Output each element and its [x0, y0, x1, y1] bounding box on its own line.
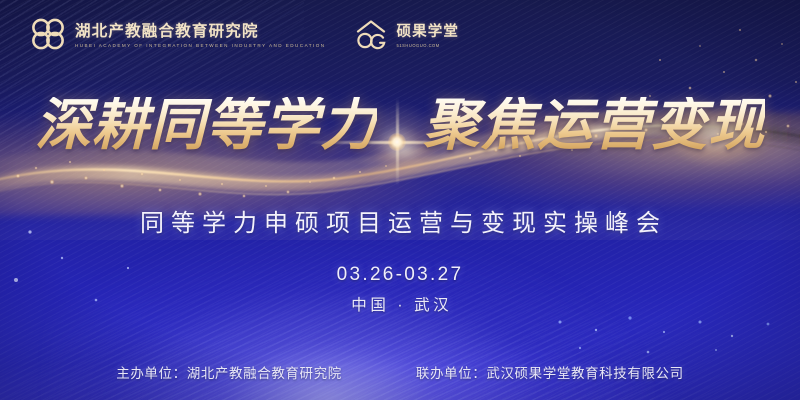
event-city: 中国 · 武汉 — [0, 293, 800, 315]
logo-shuoguo-name-cn: 硕果学堂 — [397, 24, 459, 40]
logo-shuoguo-academy: 硕果学堂 51SHUOGUO.COM — [354, 18, 459, 55]
vignette-overlay — [0, 0, 800, 400]
shuoguo-monogram-icon — [354, 18, 388, 55]
organizer-footer: 主办单位：湖北产教融合教育研究院 联办单位：武汉硕果学堂教育科技有限公司 — [0, 362, 800, 382]
co-host-organization: 联办单位：武汉硕果学堂教育科技有限公司 — [416, 362, 684, 382]
host-organization: 主办单位：湖北产教融合教育研究院 — [116, 362, 342, 382]
logo-shuoguo-text: 硕果学堂 51SHUOGUO.COM — [397, 24, 459, 48]
conference-banner: 湖北产教融合教育研究院 HUBEI ACADEMY OF INTEGRATION… — [0, 0, 800, 400]
logo-shuoguo-name-en: 51SHUOGUO.COM — [397, 43, 459, 49]
logo-hubei-name-en: HUBEI ACADEMY OF INTEGRATION BETWEEN IND… — [75, 43, 326, 50]
event-subtitle: 同等学力申硕项目运营与变现实操峰会 — [0, 203, 800, 238]
event-date-block: 03.26-03.27 中国 · 武汉 — [0, 264, 800, 315]
main-title-right: 聚焦运营变现 — [423, 97, 765, 153]
logo-hubei-text: 湖北产教融合教育研究院 HUBEI ACADEMY OF INTEGRATION… — [75, 23, 326, 49]
diagonal-hatch-texture — [0, 0, 800, 400]
header-logo-bar: 湖北产教融合教育研究院 HUBEI ACADEMY OF INTEGRATION… — [30, 17, 459, 56]
event-date: 03.26-03.27 — [0, 264, 800, 286]
four-circles-logo-icon — [30, 17, 66, 56]
particle-wave-svg — [0, 0, 800, 400]
logo-hubei-academy: 湖北产教融合教育研究院 HUBEI ACADEMY OF INTEGRATION… — [30, 17, 326, 56]
golden-particle-wave — [0, 0, 800, 400]
main-title-left: 深耕同等学力 — [35, 97, 377, 153]
logo-hubei-name-cn: 湖北产教融合教育研究院 — [75, 23, 326, 40]
main-title: 深耕同等学力 聚焦运营变现 — [0, 97, 800, 153]
